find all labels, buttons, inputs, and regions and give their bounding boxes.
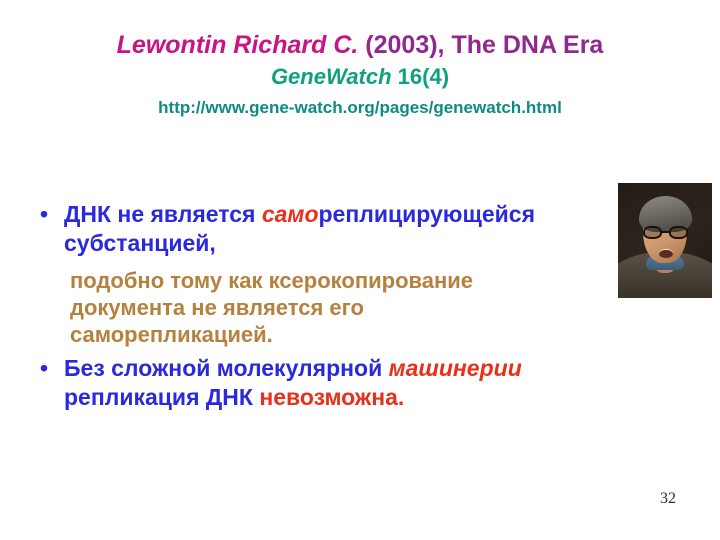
portrait-glasses-bridge (662, 231, 669, 233)
list-item: • Без сложной молекулярной машинерии реп… (36, 354, 636, 412)
title-line-citation: Lewontin Richard C. (2003), The DNA Era (0, 30, 720, 60)
bullet-1-seg-3: субстанцией, (64, 230, 216, 256)
bullet-marker-icon: • (36, 200, 64, 229)
sub-paragraph-text: подобно тому как ксерокопирование докуме… (70, 267, 530, 348)
bullet-2-seg-3-emphasis: невозможна. (259, 384, 404, 410)
bullet-1-seg-0: ДНК не является (64, 201, 262, 227)
slide-body-block: • ДНК не является самореплицирующейся су… (36, 200, 636, 412)
bullet-1-seg-1-emphasis: само (262, 201, 319, 227)
bullet-2-seg-1-emphasis: машинерии (389, 355, 522, 381)
page-number: 32 (660, 490, 676, 508)
title-url-link[interactable]: http://www.gene-watch.org/pages/genewatc… (0, 96, 720, 120)
list-item: • ДНК не является самореплицирующейся су… (36, 200, 636, 258)
title-journal-issue: 16(4) (392, 64, 449, 89)
bullet-text-1: ДНК не является самореплицирующейся субс… (64, 200, 636, 258)
portrait-lens-left (643, 226, 662, 240)
title-line-journal: GeneWatch 16(4) (0, 62, 720, 92)
glasses-icon (643, 226, 687, 240)
title-citation-rest: (2003), The DNA Era (358, 31, 603, 59)
title-author: Lewontin Richard C. (117, 31, 359, 59)
portrait-photo (618, 183, 712, 298)
bullet-marker-icon: • (36, 354, 64, 383)
bullet-2-seg-2: репликация ДНК (64, 384, 259, 410)
bullet-text-2: Без сложной молекулярной машинерии репли… (64, 354, 636, 412)
slide-canvas: Lewontin Richard C. (2003), The DNA Era … (0, 0, 720, 540)
portrait-mouth (659, 249, 673, 258)
portrait-lens-right (669, 226, 688, 240)
title-journal-name: GeneWatch (271, 64, 392, 89)
bullet-2-seg-0: Без сложной молекулярной (64, 355, 389, 381)
slide-title-block: Lewontin Richard C. (2003), The DNA Era … (0, 30, 720, 120)
bullet-1-seg-2: реплицирующейся (319, 201, 536, 227)
